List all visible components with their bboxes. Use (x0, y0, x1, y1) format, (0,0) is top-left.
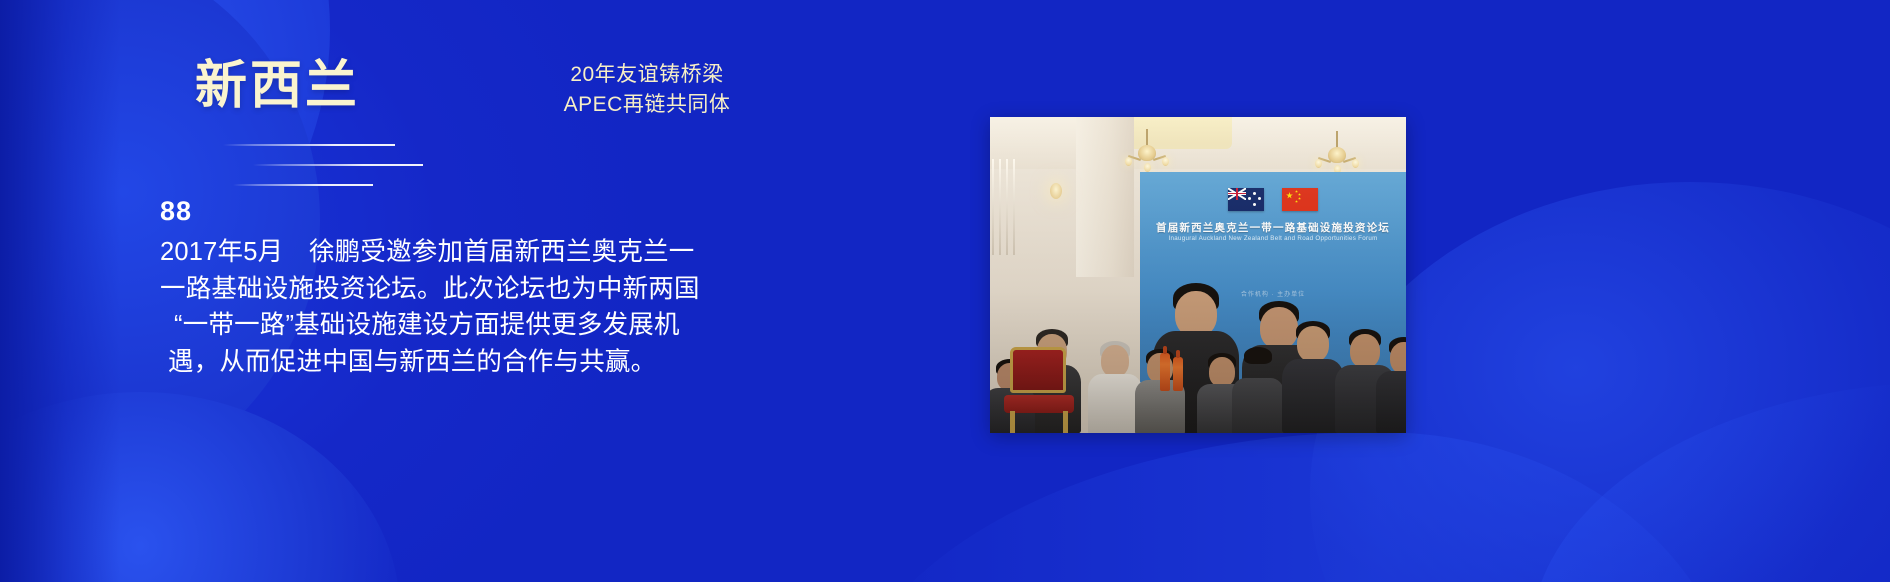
water-bottles (1160, 345, 1190, 391)
person-figure (1094, 341, 1136, 433)
person-figure (1290, 321, 1336, 433)
slide-subtitle: 20年友谊铸桥梁 APEC再链共同体 (482, 60, 812, 120)
title-underline-rules (195, 136, 575, 192)
paragraph-line-1: 2017年5月 徐鹏受邀参加首届新西兰奥克兰一 (160, 234, 850, 271)
banquet-chair (1004, 347, 1074, 433)
title-rule-2 (253, 164, 423, 166)
item-number: 88 (160, 196, 850, 227)
subtitle-line-1: 20年友谊铸桥梁 (482, 60, 812, 90)
wall-sconce-icon (1050, 183, 1062, 199)
background-left-edge-shade (0, 0, 120, 582)
banner-flags (1228, 188, 1318, 211)
presentation-slide: 新西兰 20年友谊铸桥梁 APEC再链共同体 88 2017年5月 徐鹏受邀参加… (0, 0, 1890, 582)
body-paragraph: 2017年5月 徐鹏受邀参加首届新西兰奥克兰一 一路基础设施投资论坛。此次论坛也… (160, 234, 850, 381)
person-figure (1238, 347, 1278, 433)
china-flag-icon (1282, 188, 1318, 211)
title-rule-3 (233, 184, 373, 186)
title-rule-1 (223, 144, 395, 146)
event-photo-image: 首届新西兰奥克兰一带一路基础设施投资论坛 Inaugural Auckland … (990, 117, 1406, 433)
paragraph-line-3: “一带一路”基础设施建设方面提供更多发展机 (160, 307, 850, 344)
paragraph-line-2: 一路基础设施投资论坛。此次论坛也为中新两国 (160, 271, 850, 308)
event-photo: 首届新西兰奥克兰一带一路基础设施投资论坛 Inaugural Auckland … (990, 117, 1406, 433)
subtitle-line-2: APEC再链共同体 (482, 90, 812, 120)
paragraph-line-4: 遇，从而促进中国与新西兰的合作与共赢。 (160, 344, 850, 381)
slide-body: 88 2017年5月 徐鹏受邀参加首届新西兰奥克兰一 一路基础设施投资论坛。此次… (160, 196, 850, 381)
new-zealand-flag-icon (1228, 188, 1264, 211)
person-figure (1382, 337, 1406, 433)
